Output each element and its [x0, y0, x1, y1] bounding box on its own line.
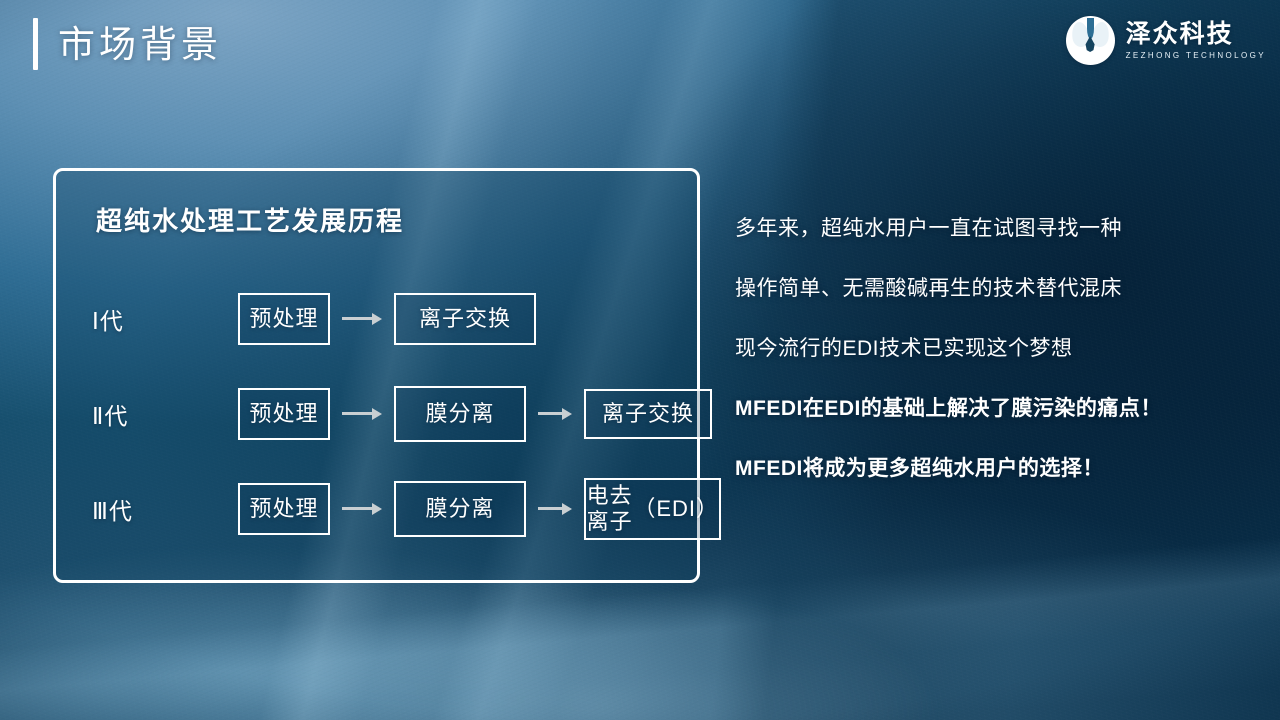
page-title: 市场背景 [58, 26, 222, 63]
flow-arrow-icon [342, 408, 382, 420]
summary-text-line: MFEDI将成为更多超纯水用户的选择！ [735, 458, 1265, 479]
arrow-shaft [342, 317, 372, 320]
process-flow-row: Ⅲ代预处理膜分离电去离子（EDI） [56, 461, 697, 556]
process-step-box[interactable]: 离子交换 [584, 389, 712, 439]
summary-text-rest: 在EDI的基础上解决了膜污染的痛点！ [803, 397, 1162, 420]
process-step-box[interactable]: 预处理 [238, 483, 330, 535]
arrow-shaft [538, 412, 562, 415]
title-accent-bar [33, 18, 38, 70]
generation-label: Ⅰ代 [92, 302, 124, 336]
process-step-box[interactable]: 膜分离 [394, 386, 526, 442]
arrow-head [372, 503, 382, 515]
summary-text-line: 多年来，超纯水用户一直在试图寻找一种 [735, 218, 1265, 239]
process-step-box[interactable]: 离子交换 [394, 293, 536, 345]
arrow-head [562, 503, 572, 515]
process-step-box[interactable]: 电去离子（EDI） [584, 478, 721, 540]
summary-text-emphasis: MFEDI [735, 397, 803, 420]
process-step-label: （EDI） [633, 496, 719, 522]
summary-text-line: MFEDI在EDI的基础上解决了膜污染的痛点！ [735, 398, 1265, 419]
process-flow-rows: Ⅰ代预处理离子交换Ⅱ代预处理膜分离离子交换Ⅲ代预处理膜分离电去离子（EDI） [56, 271, 697, 556]
process-step-box[interactable]: 预处理 [238, 388, 330, 440]
flow-arrow-icon [342, 503, 382, 515]
arrow-head [562, 408, 572, 420]
summary-text-rest: 将成为更多超纯水用户的选择！ [803, 457, 1104, 480]
flow-arrow-icon [538, 503, 572, 515]
arrow-shaft [538, 507, 562, 510]
process-step-label: 离子交换 [602, 401, 694, 427]
flow-arrow-icon [342, 313, 382, 325]
process-history-card: 超纯水处理工艺发展历程 Ⅰ代预处理离子交换Ⅱ代预处理膜分离离子交换Ⅲ代预处理膜分… [53, 168, 700, 583]
card-title: 超纯水处理工艺发展历程 [96, 201, 404, 238]
arrow-head [372, 313, 382, 325]
process-flow-row: Ⅱ代预处理膜分离离子交换 [56, 366, 697, 461]
process-step-label: 电去离子 [586, 483, 633, 535]
logo-company-name-en: ZEZHONG TECHNOLOGY [1126, 51, 1266, 60]
arrow-shaft [342, 412, 372, 415]
summary-text-line: 操作简单、无需酸碱再生的技术替代混床 [735, 278, 1265, 299]
brand-logo: 泽众科技 ZEZHONG TECHNOLOGY [1066, 16, 1266, 65]
summary-text-block: 多年来，超纯水用户一直在试图寻找一种操作简单、无需酸碱再生的技术替代混床现今流行… [735, 218, 1265, 518]
process-step-label: 膜分离 [425, 496, 494, 522]
summary-text-line: 现今流行的EDI技术已实现这个梦想 [735, 338, 1265, 359]
summary-text-emphasis: MFEDI [735, 457, 803, 480]
slide-root: 市场背景 泽众科技 ZEZHONG TECHNOLOGY 超纯水处理工艺发展历程… [0, 0, 1280, 720]
flow-arrow-icon [538, 408, 572, 420]
process-step-label: 预处理 [249, 306, 318, 332]
process-step-label: 离子交换 [419, 306, 511, 332]
generation-label: Ⅱ代 [92, 397, 128, 431]
process-step-label: 膜分离 [425, 401, 494, 427]
arrow-shaft [342, 507, 372, 510]
droplet-logo-icon [1066, 16, 1115, 65]
process-step-box[interactable]: 预处理 [238, 293, 330, 345]
logo-center-notch [1087, 18, 1094, 39]
logo-text-block: 泽众科技 ZEZHONG TECHNOLOGY [1126, 21, 1266, 59]
process-flow-row: Ⅰ代预处理离子交换 [56, 271, 697, 366]
arrow-head [372, 408, 382, 420]
process-step-label: 预处理 [249, 496, 318, 522]
process-step-box[interactable]: 膜分离 [394, 481, 526, 537]
logo-company-name-cn: 泽众科技 [1126, 21, 1266, 47]
generation-label: Ⅲ代 [92, 492, 133, 526]
slide-header: 市场背景 [33, 18, 222, 70]
process-step-label: 预处理 [249, 401, 318, 427]
